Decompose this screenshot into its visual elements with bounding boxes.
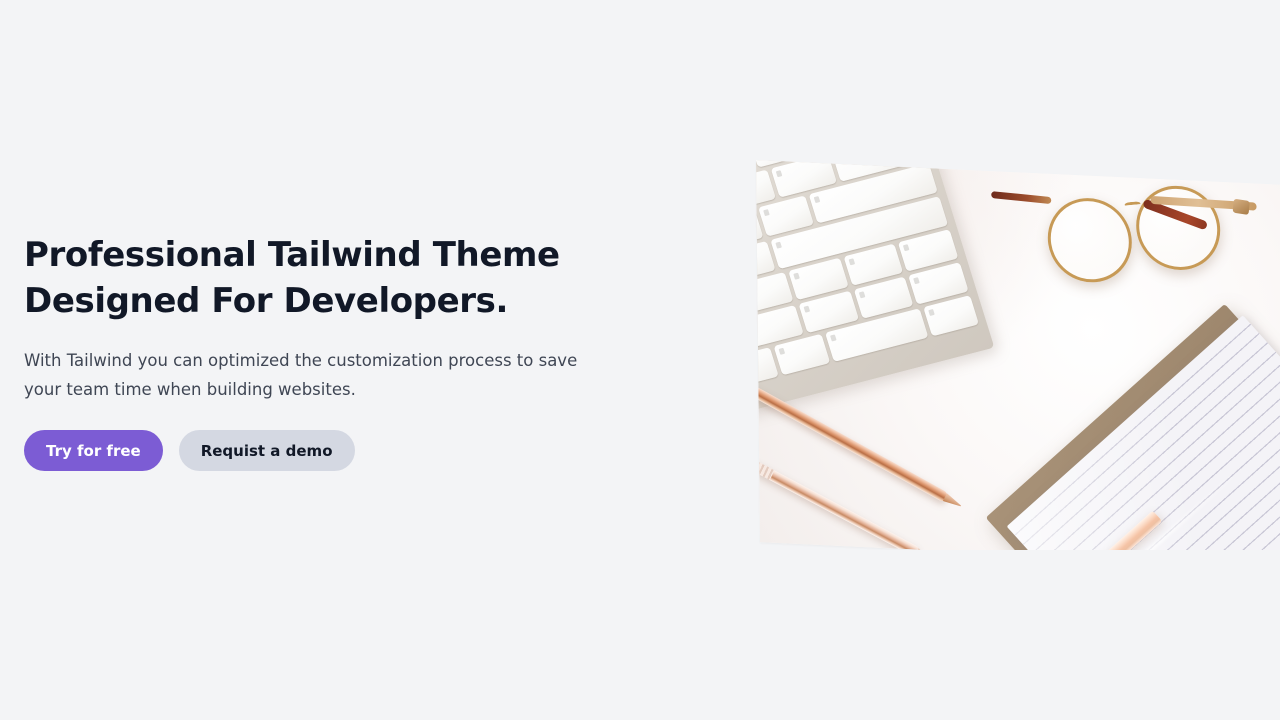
- hero-image-canvas: [756, 160, 1280, 550]
- eyeglasses-lens-right: [1130, 182, 1226, 274]
- keyboard-key: [923, 295, 979, 336]
- eyeglasses-bridge: [1124, 201, 1141, 208]
- hero-cta-group: Try for free Requist a demo: [24, 430, 664, 471]
- pen-tip: [915, 548, 933, 550]
- hero-section: Professional Tailwind Theme Designed For…: [0, 0, 1280, 720]
- rose-gold-pen-white-barrel-object: [756, 439, 921, 550]
- hero-content: Professional Tailwind Theme Designed For…: [24, 232, 664, 471]
- eyeglasses-lens-left: [1042, 194, 1138, 286]
- eyeglasses-hinge: [1233, 199, 1250, 215]
- page-title: Professional Tailwind Theme Designed For…: [24, 232, 664, 324]
- request-demo-button[interactable]: Requist a demo: [179, 430, 355, 471]
- hero-image-container: [750, 150, 1280, 550]
- pen-grip: [756, 439, 775, 480]
- keyboard-key: [774, 334, 830, 375]
- eyeglasses-object: [1017, 160, 1280, 302]
- hero-subtitle: With Tailwind you can optimized the cust…: [24, 346, 624, 404]
- hero-image: [756, 160, 1280, 550]
- try-for-free-button[interactable]: Try for free: [24, 430, 163, 471]
